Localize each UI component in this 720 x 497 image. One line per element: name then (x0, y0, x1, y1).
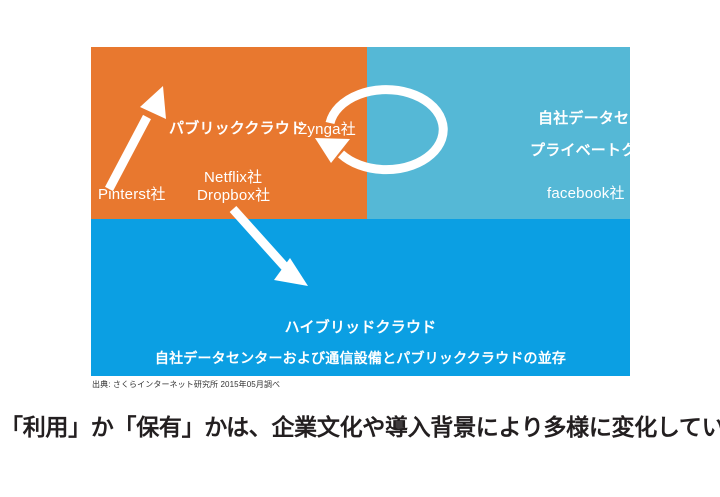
bottom-caption: 「利用」か「保有」かは、企業文化や導入背景により多様に変化している (0, 408, 720, 442)
private-cloud-panel: 自社データセンター プライベートクラウド facebook社 (367, 47, 630, 219)
own-datacenter-title: 自社データセンター (538, 110, 675, 127)
source-credit: 出典: さくらインターネット研究所 2015年05月調べ (92, 379, 280, 390)
hybrid-cloud-title: ハイブリッドクラウド (91, 319, 630, 336)
hybrid-cloud-panel: ハイブリッドクラウド 自社データセンターおよび通信設備とパブリッククラウドの並存 (91, 219, 630, 376)
public-cloud-panel: パブリッククラウド Zynga社 Pinterst社 Netflix社 Drop… (91, 47, 367, 219)
company-label-facebook: facebook社 (547, 185, 625, 202)
company-label-dropbox: Dropbox社 (197, 187, 270, 204)
company-label-netflix: Netflix社 (204, 169, 262, 186)
company-label-zynga: Zynga社 (298, 121, 356, 138)
private-cloud-title: プライベートクラウド (530, 142, 682, 159)
hybrid-cloud-description: 自社データセンターおよび通信設備とパブリッククラウドの並存 (91, 350, 630, 366)
company-label-pinterst: Pinterst社 (98, 186, 166, 203)
cloud-adoption-diagram: パブリッククラウド Zynga社 Pinterst社 Netflix社 Drop… (91, 47, 630, 376)
public-cloud-title: パブリッククラウド (169, 120, 305, 137)
